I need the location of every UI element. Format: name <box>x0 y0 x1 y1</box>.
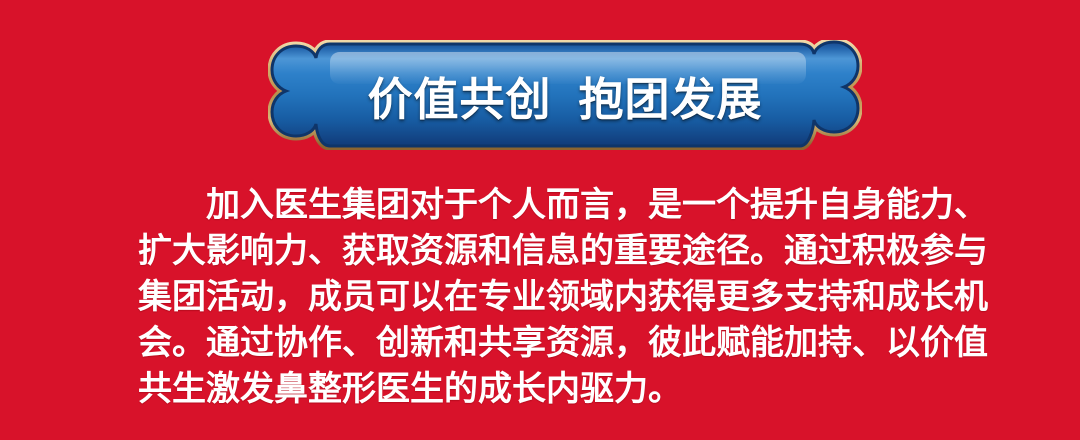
body-line: 加入医生集团对于个人而言，是一个提升自身能力、 <box>138 182 998 228</box>
body-line: 扩大影响力、获取资源和信息的重要途径。通过积极参与 <box>138 228 998 274</box>
banner-gloss-highlight <box>330 52 806 84</box>
banner-plaque-shape <box>268 40 862 150</box>
body-paragraph: 加入医生集团对于个人而言，是一个提升自身能力、 扩大影响力、获取资源和信息的重要… <box>138 182 998 412</box>
body-line: 会。通过协作、创新和共享资源，彼此赋能加持、以价值 <box>138 320 998 366</box>
body-line: 共生激发鼻整形医生的成长内驱力。 <box>138 366 998 412</box>
slide-canvas: 价值共创 抱团发展 加入医生集团对于个人而言，是一个提升自身能力、 扩大影响力、… <box>0 0 1080 440</box>
body-line: 集团活动，成员可以在专业领域内获得更多支持和成长机 <box>138 274 998 320</box>
title-banner: 价值共创 抱团发展 <box>268 40 862 150</box>
